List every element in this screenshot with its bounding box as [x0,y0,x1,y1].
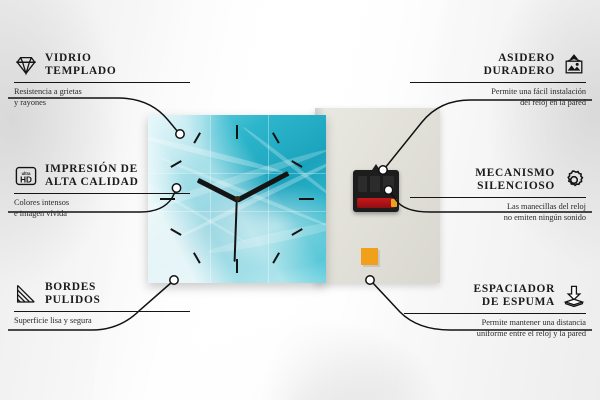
gear-icon [562,168,586,192]
feature-title-line-1: MECANISMO [475,167,555,180]
infographic-canvas: VIDRIO TEMPLADO Resistencia a grietas y … [0,0,600,400]
feature-desc-line-1: Superficie lisa y segura [14,316,190,326]
leader-asidero [385,100,592,168]
feature-divider [404,313,586,314]
feature-divider [14,193,190,194]
feature-mecanismo-silencioso: MECANISMO SILENCIOSO Las manecillas del … [410,167,586,223]
feature-desc-line-1: Resistencia a grietas [14,87,190,97]
feature-espaciador-de-espuma: ESPACIADOR DE ESPUMA Permite mantener un… [404,283,586,339]
foam-spacer-icon [562,284,586,308]
feature-title-line-2: DURADERO [484,65,555,78]
feature-divider [14,82,190,83]
hanging-frame-icon [562,53,586,77]
diamond-icon [14,53,38,77]
feature-title-line-2: ALTA CALIDAD [45,176,139,189]
leader-dot-mecanismo [384,186,392,194]
feature-desc-line-1: Colores intensos [14,198,190,208]
feature-asidero-duradero: ASIDERO DURADERO Permite una fácil insta… [410,52,586,108]
feature-desc-line-2: del reloj en la pared [410,98,586,108]
feature-desc-line-2: y rayones [14,98,190,108]
leader-dot-asidero [379,166,387,174]
feature-impresion-alta-calidad: ultra HD IMPRESIÓN DE ALTA CALIDAD Color… [14,163,190,219]
leader-dot-vidrio-templado [176,130,184,138]
ultra-hd-large-text: HD [20,176,32,185]
feature-desc-line-1: Permite mantener una distancia [404,318,586,328]
feature-bordes-pulidos: BORDES PULIDOS Superficie lisa y segura [14,281,190,327]
feature-desc-line-1: Las manecillas del reloj [410,202,586,212]
feature-title-line-2: SILENCIOSO [477,180,555,193]
feature-divider [410,197,586,198]
feature-title-line-2: DE ESPUMA [482,296,555,309]
feature-divider [410,82,586,83]
ultra-hd-icon: ultra HD [14,164,38,188]
feature-desc-line-2: uniforme entre el reloj y la pared [404,329,586,339]
feature-divider [14,311,190,312]
leader-dot-espaciador [366,276,374,284]
feature-title-line-2: PULIDOS [45,294,101,307]
feature-title-line-1: ASIDERO [498,52,555,65]
feature-title-line-1: IMPRESIÓN DE [45,163,138,176]
feature-title-line-1: VIDRIO [45,52,92,65]
polished-edges-icon [14,282,38,306]
feature-desc-line-1: Permite una fácil instalación [410,87,586,97]
feature-title-line-2: TEMPLADO [45,65,116,78]
feature-desc-line-2: e imagen vívida [14,209,190,219]
feature-desc-line-2: no emiten ningún sonido [410,213,586,223]
feature-title-line-1: BORDES [45,281,96,294]
feature-vidrio-templado: VIDRIO TEMPLADO Resistencia a grietas y … [14,52,190,108]
feature-title-line-1: ESPACIADOR [474,283,555,296]
